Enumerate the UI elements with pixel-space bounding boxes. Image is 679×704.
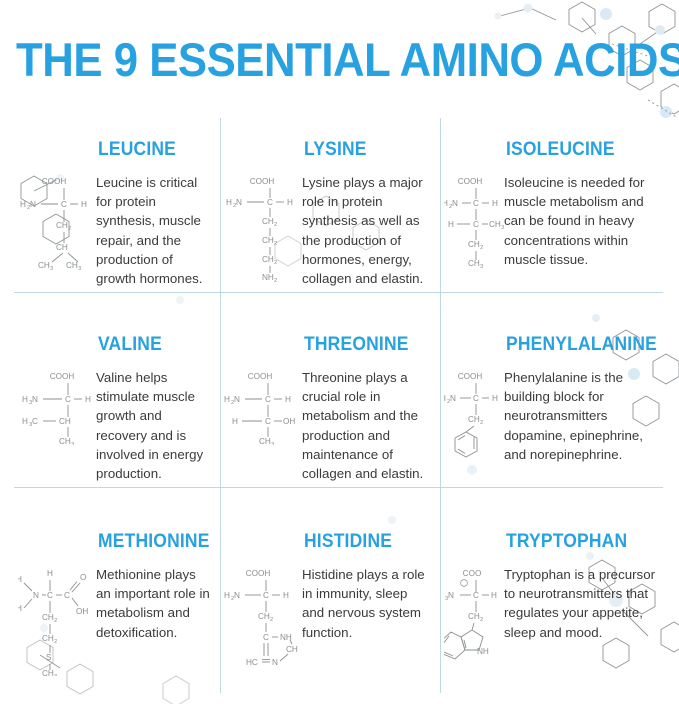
svg-text:H: H <box>285 395 291 404</box>
svg-text:CH: CH <box>262 217 274 226</box>
infographic-page: THE 9 ESSENTIAL AMINO ACIDS LEUCINE COOH… <box>0 0 679 704</box>
svg-text:O: O <box>80 573 86 582</box>
svg-text:H: H <box>85 395 91 404</box>
svg-text:CH: CH <box>38 261 50 270</box>
amino-acid-grid: LEUCINE COOH H2N C H CH2 CH <box>14 118 665 693</box>
svg-text:2: 2 <box>480 420 483 426</box>
svg-text:H: H <box>444 394 446 403</box>
svg-text:CH: CH <box>286 645 298 654</box>
svg-text:N: N <box>448 591 454 600</box>
svg-text:H: H <box>81 200 87 209</box>
svg-text:C: C <box>265 417 271 426</box>
svg-text:2: 2 <box>274 222 277 228</box>
svg-text:N: N <box>32 395 38 404</box>
svg-text:C: C <box>265 395 271 404</box>
svg-text:C: C <box>61 200 67 209</box>
amino-acid-name: METHIONINE <box>98 532 201 551</box>
svg-text:H: H <box>448 220 454 229</box>
amino-acid-description: Phenylalanine is the building block for … <box>504 367 655 464</box>
amino-acid-name: LEUCINE <box>98 140 201 159</box>
svg-text:H: H <box>22 417 28 426</box>
svg-text:H: H <box>444 199 448 208</box>
chemical-structure-histidine: COOH H2N C H CH2 C NH <box>224 564 302 668</box>
svg-text:C: C <box>263 591 269 600</box>
svg-text:H: H <box>226 198 232 207</box>
svg-text:CH: CH <box>468 259 480 268</box>
svg-text:CH: CH <box>468 415 480 424</box>
amino-acid-card-threonine: THREONINE COOH H2N C H H C <box>220 313 440 508</box>
svg-text:H: H <box>492 394 498 403</box>
chemical-structure-phenylalanine: COOH H2N C H CH2 <box>444 367 504 459</box>
svg-text:2: 2 <box>480 617 483 623</box>
svg-text:COO: COO <box>463 569 482 578</box>
svg-text:2: 2 <box>274 241 277 247</box>
svg-text:NH: NH <box>262 273 274 282</box>
svg-text:2: 2 <box>54 639 57 645</box>
svg-text:COOH: COOH <box>42 177 67 186</box>
amino-acid-card-valine: VALINE COOH H3N C H H3C CH <box>14 313 220 508</box>
amino-acid-description: Isoleucine is needed for muscle metaboli… <box>504 172 655 269</box>
amino-acid-card-lysine: LYSINE COOH H2N C H CH2 CH2 <box>220 118 440 313</box>
chemical-structure-tryptophan: COO H3N C H CH2 NH <box>444 564 504 668</box>
svg-text:H: H <box>232 417 238 426</box>
svg-text:CH: CH <box>56 221 68 230</box>
svg-text:H: H <box>224 591 230 600</box>
svg-text:COOH: COOH <box>248 372 273 381</box>
svg-text:COOH: COOH <box>458 372 483 381</box>
svg-text:H: H <box>491 591 497 600</box>
chemical-structure-threonine: COOH H2N C H H C OH CH3 <box>224 367 302 445</box>
svg-text:2: 2 <box>274 278 277 284</box>
svg-text:C: C <box>473 394 479 403</box>
svg-text:3: 3 <box>54 674 57 676</box>
svg-text:H: H <box>18 575 22 584</box>
chemical-structure-lysine: COOH H2N C H CH2 CH2 CH2 <box>224 172 302 284</box>
svg-text:H: H <box>492 199 498 208</box>
amino-acid-card-histidine: HISTIDINE COOH H2N C H CH2 <box>220 508 440 693</box>
amino-acid-card-tryptophan: TRYPTOPHAN COO H3N C H CH2 <box>440 508 665 693</box>
amino-acid-name: THREONINE <box>304 335 420 354</box>
amino-acid-name: TRYPTOPHAN <box>506 532 643 551</box>
amino-acid-card-leucine: LEUCINE COOH H2N C H CH2 CH <box>14 118 220 313</box>
svg-text:CH: CH <box>468 240 480 249</box>
svg-text:2: 2 <box>68 226 71 232</box>
chemical-structure-valine: COOH H3N C H H3C CH CH3 <box>18 367 96 445</box>
chemical-structure-isoleucine: COOH H2N C H H C CH3 CH2 <box>444 172 504 268</box>
chemical-structure-leucine: COOH H2N C H CH2 CH CH3 C <box>18 172 96 270</box>
svg-text:OH: OH <box>283 417 295 426</box>
svg-text:CH: CH <box>42 613 54 622</box>
amino-acid-card-phenylalanine: PHENYLALANINE COOH H2N C H CH2 <box>440 313 665 508</box>
svg-text:N: N <box>236 198 242 207</box>
svg-text:3: 3 <box>480 264 483 268</box>
amino-acid-description: Methionine plays an important role in me… <box>96 564 210 642</box>
chemical-structure-methionine: H H H N C C <box>18 564 96 676</box>
svg-text:C: C <box>473 220 479 229</box>
grid-divider-vertical-2 <box>440 118 441 693</box>
svg-text:CH: CH <box>66 261 78 270</box>
amino-acid-name: VALINE <box>98 335 201 354</box>
svg-text:H: H <box>287 198 293 207</box>
amino-acid-name: LYSINE <box>304 140 420 159</box>
svg-text:H: H <box>224 395 230 404</box>
svg-text:C: C <box>65 395 71 404</box>
svg-text:N: N <box>272 658 278 667</box>
svg-text:CH: CH <box>42 634 54 643</box>
title-block: THE 9 ESSENTIAL AMINO ACIDS <box>14 0 665 118</box>
svg-text:2: 2 <box>480 245 483 251</box>
svg-text:HC: HC <box>246 658 258 667</box>
svg-text:H: H <box>283 591 289 600</box>
grid-divider-horizontal-1 <box>14 292 663 293</box>
amino-acid-card-methionine: METHIONINE H H H N C <box>14 508 220 693</box>
amino-acid-description: Valine helps stimulate muscle growth and… <box>96 367 210 483</box>
svg-text:C: C <box>64 591 70 600</box>
amino-acid-description: Histidine plays a role in immunity, slee… <box>302 564 430 642</box>
amino-acid-card-isoleucine: ISOLEUCINE COOH H2N C H H C <box>440 118 665 313</box>
svg-text:CH: CH <box>59 437 71 445</box>
svg-text:C: C <box>263 633 269 642</box>
svg-text:N: N <box>234 395 240 404</box>
svg-text:CH: CH <box>468 612 480 621</box>
svg-text:CH: CH <box>56 243 68 252</box>
amino-acid-name: PHENYLALANINE <box>506 335 643 354</box>
svg-text:2: 2 <box>274 260 277 266</box>
svg-text:3: 3 <box>50 266 53 270</box>
grid-divider-horizontal-2 <box>14 487 663 488</box>
svg-text:2: 2 <box>54 618 57 624</box>
svg-text:H: H <box>20 200 26 209</box>
svg-text:COOH: COOH <box>250 177 275 186</box>
svg-text:N: N <box>33 591 39 600</box>
amino-acid-name: HISTIDINE <box>304 532 420 551</box>
svg-text:H: H <box>47 569 53 578</box>
svg-text:C: C <box>267 198 273 207</box>
svg-text:CH: CH <box>489 220 501 229</box>
amino-acid-description: Leucine is critical for protein synthesi… <box>96 172 210 288</box>
svg-text:COOH: COOH <box>458 177 483 186</box>
amino-acid-description: Threonine plays a crucial role in metabo… <box>302 367 430 483</box>
amino-acid-name: ISOLEUCINE <box>506 140 643 159</box>
svg-text:S: S <box>46 653 52 662</box>
svg-text:N: N <box>450 394 456 403</box>
svg-text:3: 3 <box>78 266 81 270</box>
page-title: THE 9 ESSENTIAL AMINO ACIDS <box>16 36 679 83</box>
svg-text:OH: OH <box>76 607 88 616</box>
svg-text:2: 2 <box>270 617 273 623</box>
svg-text:3: 3 <box>71 442 74 445</box>
svg-text:CH: CH <box>42 669 54 676</box>
svg-text:H: H <box>18 604 22 613</box>
svg-text:CH: CH <box>258 612 270 621</box>
svg-text:COOH: COOH <box>50 372 75 381</box>
amino-acid-description: Tryptophan is a precursor to neurotransm… <box>504 564 655 642</box>
svg-text:N: N <box>30 200 36 209</box>
svg-text:C: C <box>473 199 479 208</box>
svg-text:H: H <box>22 395 28 404</box>
svg-text:C: C <box>32 417 38 426</box>
svg-text:N: N <box>452 199 458 208</box>
amino-acid-description: Lysine plays a major role in protein syn… <box>302 172 430 288</box>
svg-text:CH: CH <box>262 255 274 264</box>
svg-text:COOH: COOH <box>246 569 271 578</box>
svg-text:CH: CH <box>59 417 71 426</box>
svg-text:N: N <box>234 591 240 600</box>
svg-text:3: 3 <box>271 442 274 445</box>
grid-divider-vertical-1 <box>220 118 221 693</box>
svg-text:3: 3 <box>501 225 504 231</box>
svg-text:NH: NH <box>477 647 489 656</box>
svg-text:C: C <box>473 591 479 600</box>
svg-text:CH: CH <box>259 437 271 445</box>
svg-text:C: C <box>47 591 53 600</box>
svg-text:CH: CH <box>262 236 274 245</box>
